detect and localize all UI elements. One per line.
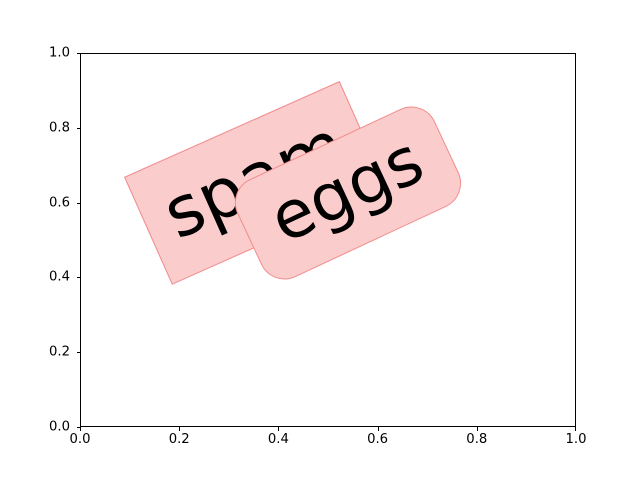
x-ticklabel-2: 0.4	[268, 433, 289, 446]
y-ticklabel-2: 0.4	[49, 271, 70, 284]
y-tick-0	[77, 427, 81, 428]
x-ticklabel-0: 0.0	[70, 433, 91, 446]
x-tick-3	[378, 427, 379, 431]
x-ticklabel-1: 0.2	[169, 433, 190, 446]
x-ticklabel-4: 0.8	[466, 433, 487, 446]
x-tick-2	[278, 427, 279, 431]
x-tick-0	[80, 427, 81, 431]
y-ticklabel-3: 0.6	[49, 196, 70, 209]
y-tick-4	[77, 128, 81, 129]
y-tick-2	[77, 277, 81, 278]
y-tick-1	[77, 352, 81, 353]
matplotlib-figure: 0.0 0.2 0.4 0.6 0.8 1.0 0.0 0.2 0.4 0.6 …	[0, 0, 640, 480]
y-tick-3	[77, 203, 81, 204]
y-ticklabel-4: 0.8	[49, 121, 70, 134]
x-ticklabel-3: 0.6	[367, 433, 388, 446]
x-tick-1	[179, 427, 180, 431]
x-tick-5	[575, 427, 576, 431]
y-ticklabel-1: 0.2	[49, 346, 70, 359]
x-tick-4	[477, 427, 478, 431]
x-ticklabel-5: 1.0	[566, 433, 587, 446]
y-ticklabel-0: 0.0	[49, 420, 70, 433]
y-tick-5	[77, 53, 81, 54]
y-ticklabel-5: 1.0	[49, 46, 70, 59]
